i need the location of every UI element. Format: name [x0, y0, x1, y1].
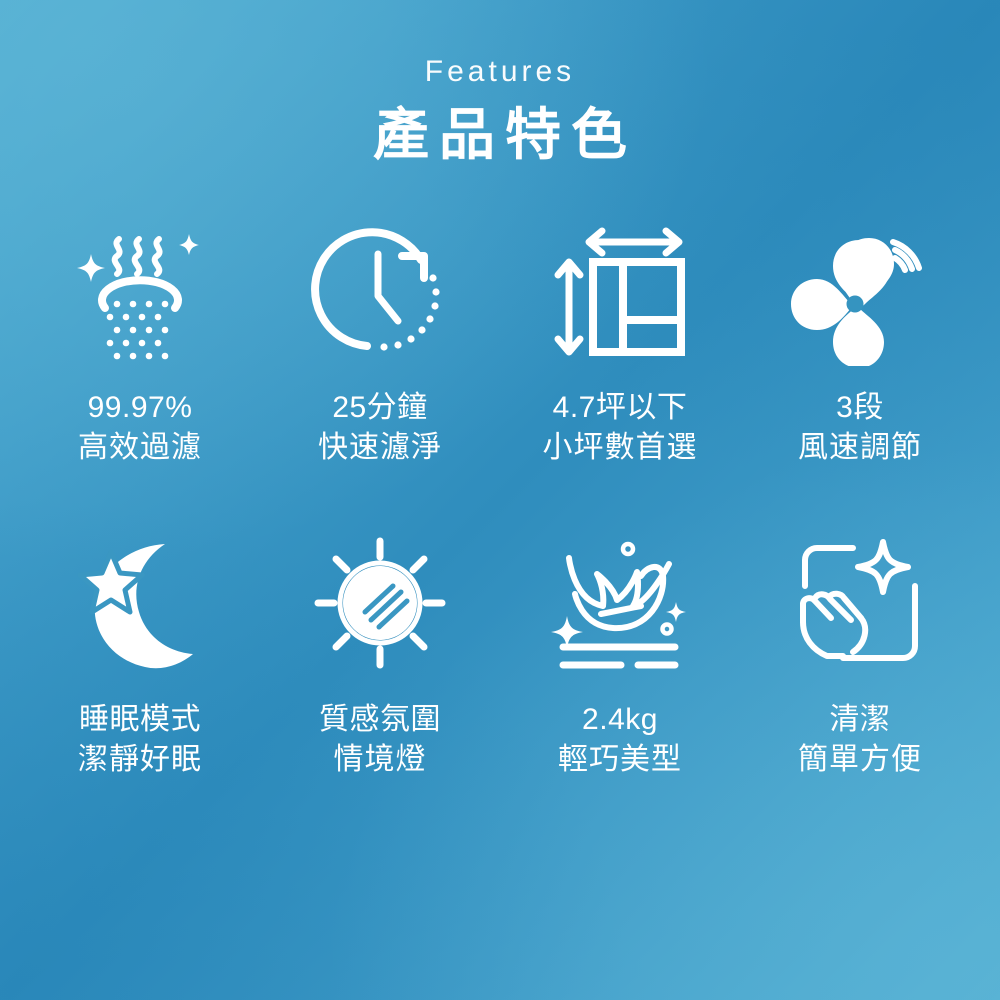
feature-item-filter: 99.97% 高效過濾: [20, 216, 260, 468]
page-title: 產品特色: [0, 100, 1000, 170]
feature-item-sleep: 睡眠模式 潔靜好眠: [20, 528, 260, 780]
feature-caption-line-1: 2.4kg: [558, 700, 682, 740]
feature-caption-line-2: 快速濾淨: [318, 428, 442, 468]
feature-item-cleaning: 清潔 簡單方便: [740, 528, 980, 780]
feature-caption: 2.4kg 輕巧美型: [558, 700, 682, 780]
feature-item-moodlight: 質感氛圍 情境燈: [260, 528, 500, 780]
feature-caption-line-1: 質感氛圍: [319, 700, 441, 740]
clock-fast-cycle-icon: [305, 216, 455, 366]
feature-caption-line-2: 情境燈: [319, 740, 441, 780]
feature-caption-line-1: 99.97%: [78, 388, 202, 428]
feature-caption: 3段 風速調節: [798, 388, 922, 468]
poster-background: Features 產品特色: [0, 0, 1000, 1000]
feature-caption: 99.97% 高效過濾: [78, 388, 202, 468]
air-purify-filter-icon: [65, 216, 215, 366]
feature-caption: 睡眠模式 潔靜好眠: [78, 700, 202, 780]
poster-content: Features 產品特色: [0, 0, 1000, 1000]
feature-caption-line-2: 小坪數首選: [543, 428, 698, 468]
feature-grid-row-1: 99.97% 高效過濾: [20, 216, 980, 468]
fan-speed-icon: [785, 216, 935, 366]
moon-star-sleep-icon: [65, 528, 215, 678]
feature-caption-line-2: 風速調節: [798, 428, 922, 468]
sun-mood-light-icon: [305, 528, 455, 678]
page-header: Features 產品特色: [0, 0, 1000, 170]
feature-caption-line-2: 輕巧美型: [558, 740, 682, 780]
feature-item-weight: 2.4kg 輕巧美型: [500, 528, 740, 780]
feather-lightweight-icon: [545, 528, 695, 678]
feature-caption-line-2: 高效過濾: [78, 428, 202, 468]
feature-caption-line-1: 睡眠模式: [78, 700, 202, 740]
feature-caption-line-1: 4.7坪以下: [543, 388, 698, 428]
feature-item-fanspeed: 3段 風速調節: [740, 216, 980, 468]
feature-caption-line-2: 簡單方便: [798, 740, 922, 780]
feature-caption: 25分鐘 快速濾淨: [318, 388, 442, 468]
feature-caption: 4.7坪以下 小坪數首選: [543, 388, 698, 468]
feature-caption: 清潔 簡單方便: [798, 700, 922, 780]
page-eyebrow: Features: [0, 56, 1000, 88]
feature-item-speed: 25分鐘 快速濾淨: [260, 216, 500, 468]
hand-wipe-clean-icon: [785, 528, 935, 678]
feature-caption-line-2: 潔靜好眠: [78, 740, 202, 780]
feature-caption-line-1: 3段: [798, 388, 922, 428]
feature-grid-row-2: 睡眠模式 潔靜好眠: [20, 528, 980, 780]
feature-caption: 質感氛圍 情境燈: [319, 700, 441, 780]
room-area-coverage-icon: [545, 216, 695, 366]
feature-caption-line-1: 清潔: [798, 700, 922, 740]
feature-item-area: 4.7坪以下 小坪數首選: [500, 216, 740, 468]
feature-caption-line-1: 25分鐘: [318, 388, 442, 428]
